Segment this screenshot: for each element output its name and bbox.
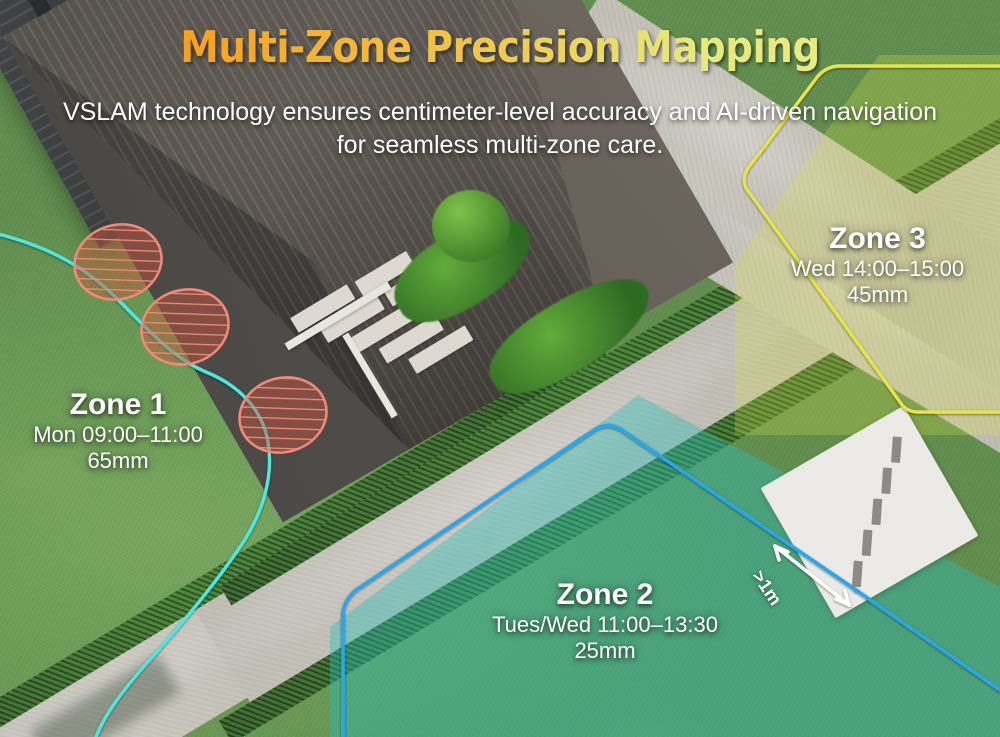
tree [432,190,510,262]
zone2-name: Zone 2 [455,578,755,612]
zone1-cut-height: 65mm [0,448,238,475]
zone1-label: Zone 1 Mon 09:00–11:00 65mm [0,388,238,475]
page-title: Multi-Zone Precision Mapping [60,22,940,73]
infographic-canvas: Multi-Zone Precision Mapping VSLAM techn… [0,0,1000,737]
zone2-schedule: Tues/Wed 11:00–13:30 [455,612,755,639]
zone3-name: Zone 3 [755,222,1000,256]
zone1-schedule: Mon 09:00–11:00 [0,422,238,449]
zone1-name: Zone 1 [0,388,238,422]
zone3-schedule: Wed 14:00–15:00 [755,256,1000,283]
zone2-cut-height: 25mm [455,638,755,665]
zone3-label: Zone 3 Wed 14:00–15:00 45mm [755,222,1000,309]
zone2-label: Zone 2 Tues/Wed 11:00–13:30 25mm [455,578,755,665]
zone3-cut-height: 45mm [755,282,1000,309]
page-subtitle: VSLAM technology ensures centimeter-leve… [60,96,940,163]
